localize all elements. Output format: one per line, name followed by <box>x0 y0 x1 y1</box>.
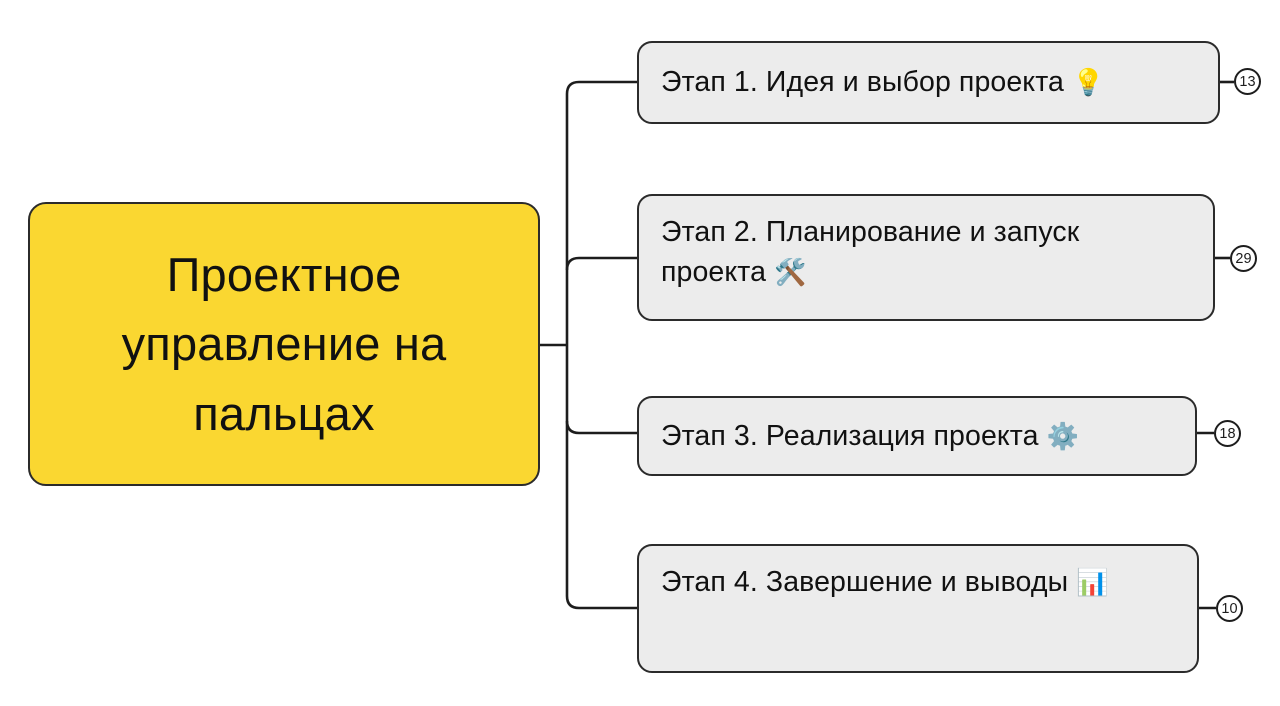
branch-node-stage-1[interactable]: Этап 1. Идея и выбор проекта 💡 <box>637 41 1220 124</box>
branch-3-count-badge[interactable]: 18 <box>1214 420 1241 447</box>
branch-node-3-text: Этап 3. Реализация проекта <box>661 420 1047 452</box>
gear-icon: ⚙️ <box>1047 422 1079 452</box>
branch-4-count-badge[interactable]: 10 <box>1216 595 1243 622</box>
root-node[interactable]: Проектное управление на пальцах <box>28 202 540 486</box>
connector-to-node-2 <box>567 258 637 270</box>
branch-1-count-badge[interactable]: 13 <box>1234 68 1261 95</box>
branch-node-1-text: Этап 1. Идея и выбор проекта <box>661 66 1072 98</box>
branch-node-3-label: Этап 3. Реализация проекта ⚙️ <box>639 416 1101 456</box>
connector-to-node-1 <box>567 82 637 94</box>
connector-to-node-4 <box>567 596 637 608</box>
hammer-and-wrench-icon: 🛠️ <box>774 258 806 288</box>
branch-2-count-badge[interactable]: 29 <box>1230 245 1257 272</box>
connector-to-node-3 <box>567 421 637 433</box>
branch-node-4-label: Этап 4. Завершение и выводы 📊 <box>639 546 1131 602</box>
branch-node-2-text: Этап 2. Планирование и запуск проекта <box>661 216 1079 288</box>
branch-node-1-label: Этап 1. Идея и выбор проекта 💡 <box>639 62 1127 102</box>
root-node-label: Проектное управление на пальцах <box>30 240 538 449</box>
light-bulb-icon: 💡 <box>1072 68 1104 98</box>
branch-node-stage-3[interactable]: Этап 3. Реализация проекта ⚙️ <box>637 396 1197 476</box>
branch-node-4-text: Этап 4. Завершение и выводы <box>661 566 1076 598</box>
branch-node-stage-2[interactable]: Этап 2. Планирование и запуск проекта 🛠️ <box>637 194 1215 321</box>
branch-node-stage-4[interactable]: Этап 4. Завершение и выводы 📊 <box>637 544 1199 673</box>
branch-node-2-label: Этап 2. Планирование и запуск проекта 🛠️ <box>639 196 1213 293</box>
bar-chart-icon: 📊 <box>1076 568 1108 598</box>
mindmap-canvas: Проектное управление на пальцах Этап 1. … <box>0 0 1280 706</box>
